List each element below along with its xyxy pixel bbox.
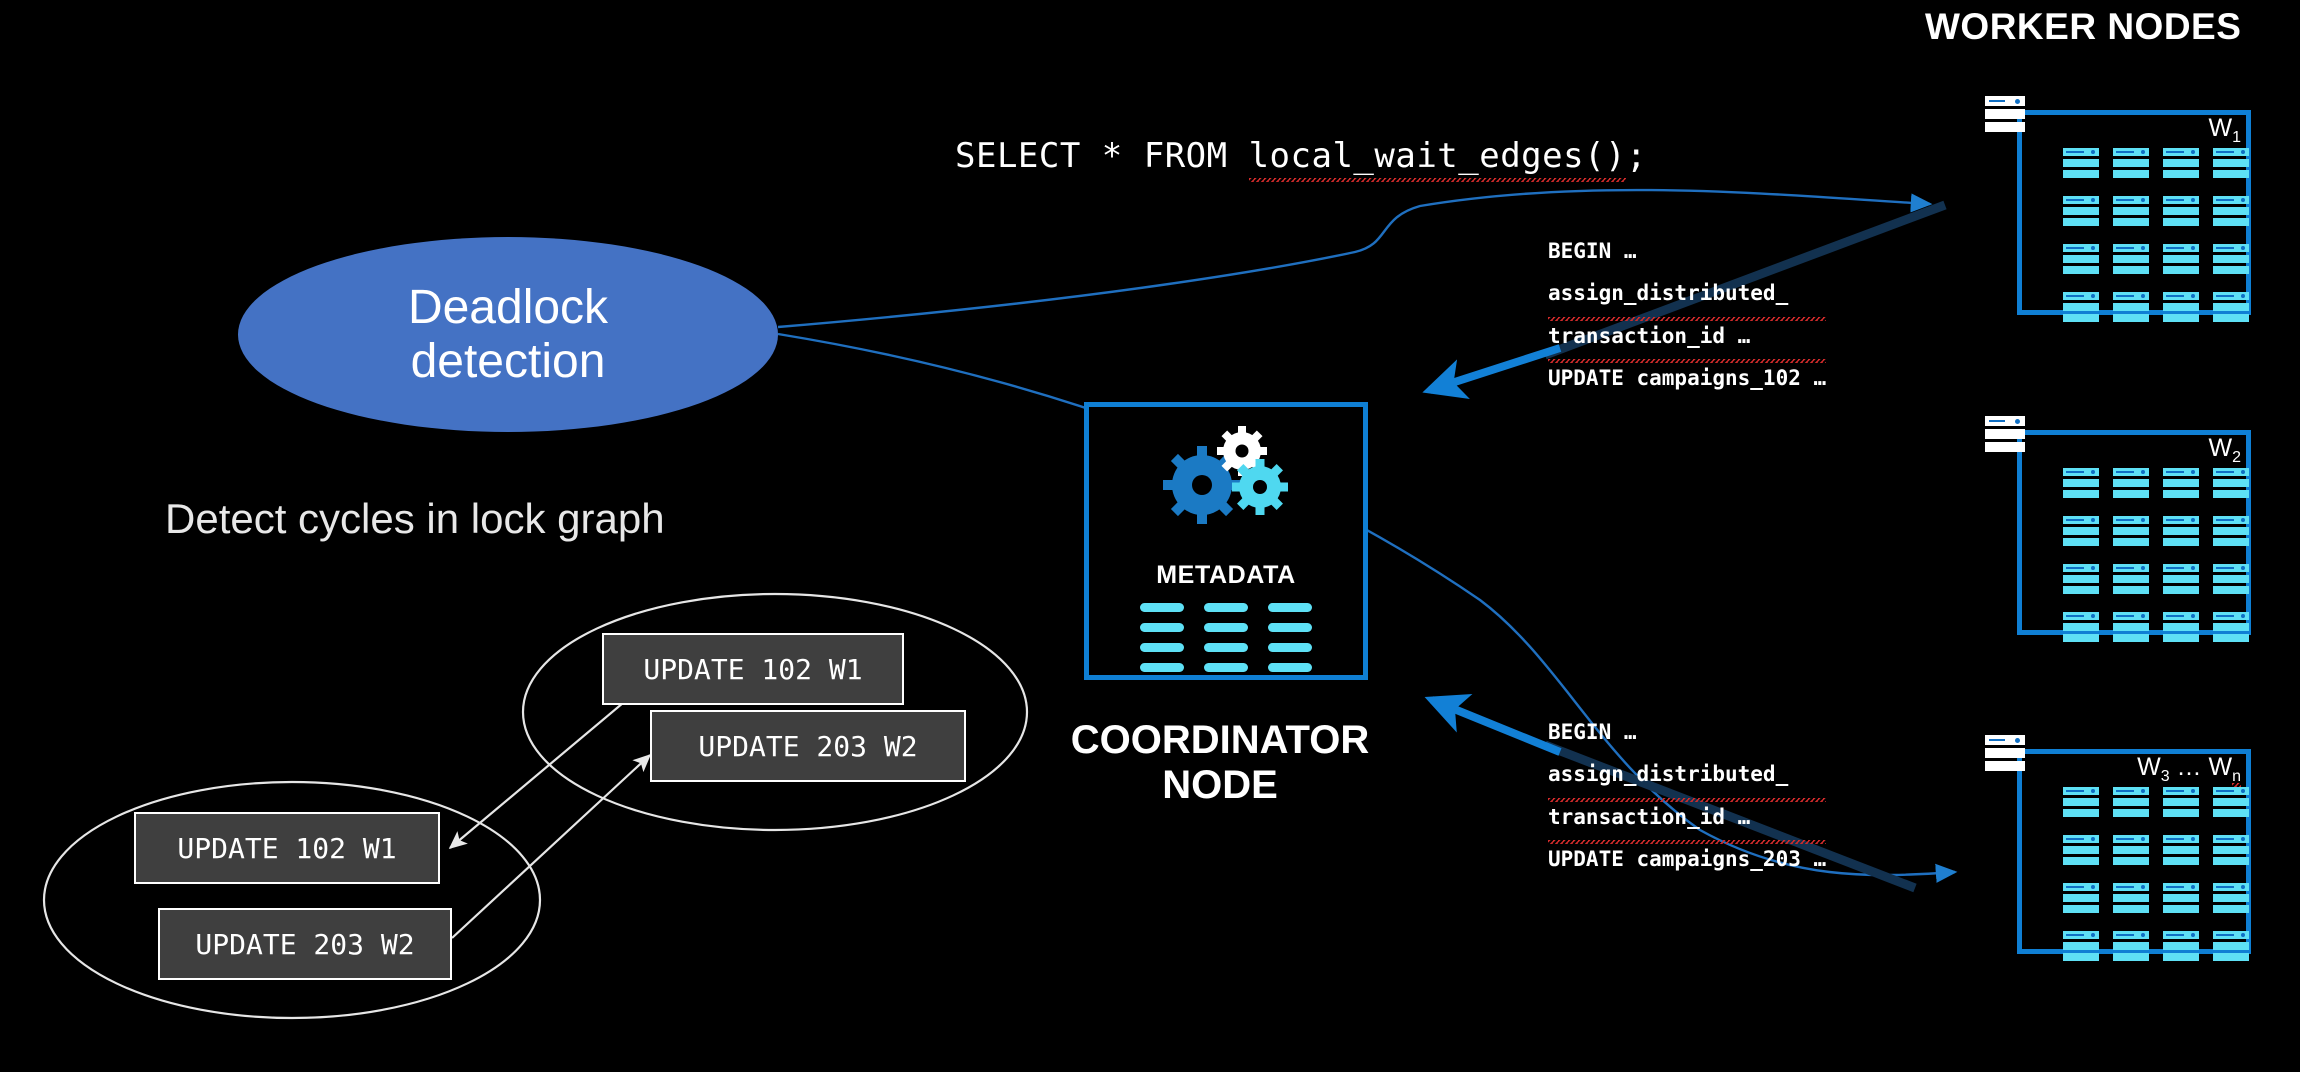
txn1-line-4: UPDATE campaigns_102 … — [1548, 357, 1826, 399]
coordinator-title-line2: NODE — [1010, 763, 1430, 808]
sql-statement: SELECT * FROM local_wait_edges(); — [955, 136, 1647, 176]
lock-box-upper-102: UPDATE 102 W1 — [602, 633, 904, 705]
cycle-edge-up — [452, 755, 650, 938]
transaction-block-203: BEGIN … assign_distributed_ transaction_… — [1548, 711, 1826, 881]
txn2-line-4: UPDATE campaigns_203 … — [1548, 838, 1826, 880]
txn1-line-2: assign_distributed_ — [1548, 272, 1826, 314]
sql-function-name: local_wait_edges() — [1249, 136, 1626, 176]
worker-nodes-title: WORKER NODES — [1925, 6, 2241, 48]
sql-suffix: ; — [1626, 136, 1647, 176]
diagram-canvas: WORKER NODES COORDINATOR NODE Detect cyc… — [0, 0, 2300, 1072]
txn2-line-3: transaction_id … — [1548, 796, 1826, 838]
lock-box-lower-203: UPDATE 203 W2 — [158, 908, 452, 980]
sql-prefix: SELECT * FROM — [955, 136, 1249, 176]
txn2-line-1: BEGIN … — [1548, 711, 1826, 753]
txn2-line-2: assign_distributed_ — [1548, 753, 1826, 795]
coordinator-node-title: COORDINATOR NODE — [1010, 718, 1430, 808]
txn1-line-1: BEGIN … — [1548, 230, 1826, 272]
txn1-line-3: transaction_id … — [1548, 315, 1826, 357]
lock-box-upper-203: UPDATE 203 W2 — [650, 710, 966, 782]
coordinator-title-line1: COORDINATOR — [1010, 718, 1430, 763]
lock-box-lower-102: UPDATE 102 W1 — [134, 812, 440, 884]
transaction-block-102: BEGIN … assign_distributed_ transaction_… — [1548, 230, 1826, 400]
detect-cycles-caption: Detect cycles in lock graph — [165, 495, 665, 543]
